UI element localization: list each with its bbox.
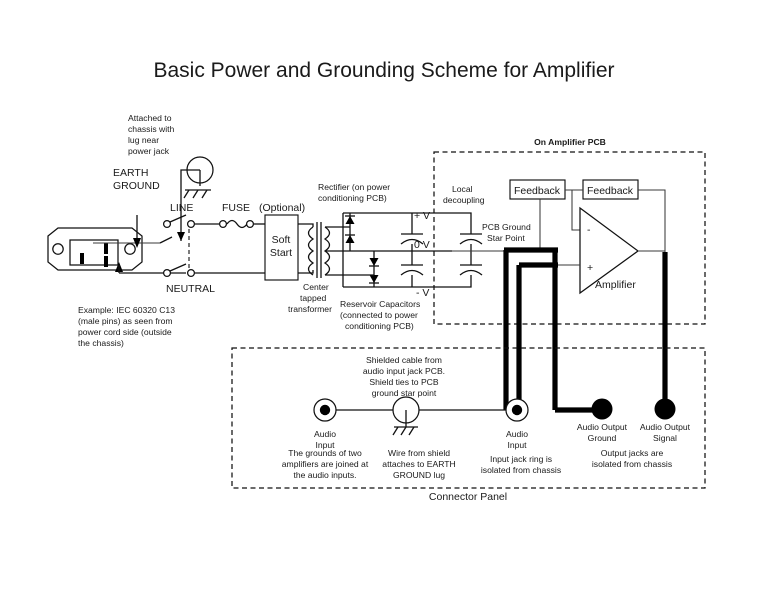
audio-output-signal-jack xyxy=(655,399,676,420)
softstart-to-primary-top xyxy=(298,224,313,227)
fuse-terminal-left xyxy=(220,221,227,228)
line-lead-to-switch xyxy=(160,237,172,243)
neutral-switch xyxy=(164,264,195,276)
power-grounding-schematic: Basic Power and Grounding Scheme for Amp… xyxy=(0,0,768,594)
reservoir-label-line-3: conditioning PCB) xyxy=(345,321,414,331)
amplifier-noninverting-input-label: + xyxy=(587,262,593,274)
diode-3 xyxy=(369,258,379,266)
page-title: Basic Power and Grounding Scheme for Amp… xyxy=(153,59,614,82)
line-switch-pole-right xyxy=(188,221,195,228)
feedback-2-to-output-wire xyxy=(638,190,665,252)
soft-start-label-line-1: Soft xyxy=(272,234,291,246)
rail-zero-label: 0 V xyxy=(414,239,430,251)
decoup-neg-bottom-lead xyxy=(452,275,471,287)
attached-note-line-2: chassis with xyxy=(128,124,175,134)
fuse-label: FUSE xyxy=(222,202,250,214)
rectifier-label-line-1: Rectifier (on power xyxy=(318,182,390,192)
diode-2 xyxy=(345,235,355,243)
shield-earth-ground-node xyxy=(393,397,419,435)
amplifier-label: Amplifier xyxy=(595,279,636,291)
diagram-canvas: Basic Power and Grounding Scheme for Amp… xyxy=(0,0,768,594)
fuse-terminal-right xyxy=(247,221,254,228)
inlet-pin-line xyxy=(104,243,108,254)
attached-note-line-4: power jack xyxy=(128,146,170,156)
feedback-to-inverting-input-wire xyxy=(572,190,580,230)
on-amplifier-pcb-label: On Amplifier PCB xyxy=(534,137,606,147)
grounds-joined-note-line-1: The grounds of two xyxy=(288,448,362,458)
audio-input-right-label-line-1: Audio xyxy=(506,429,528,439)
audio-output-ground-jack xyxy=(592,399,613,420)
diode-1 xyxy=(345,216,355,224)
iec-example-line-2: (male pins) as seen from xyxy=(78,316,173,326)
inlet-pin-earth xyxy=(80,253,84,264)
iec-example-line-1: Example: IEC 60320 C13 xyxy=(78,305,175,315)
connector-panel-label: Connector Panel xyxy=(429,491,507,503)
rail-minus-label: - V xyxy=(416,287,429,299)
pcb-star-point-label-line-1: PCB Ground xyxy=(482,222,531,232)
earth-ground-label-line-1: EARTH xyxy=(113,167,148,179)
transformer xyxy=(309,222,453,278)
local-decoupling-label-line-2: decoupling xyxy=(443,195,485,205)
local-decoupling-capacitors xyxy=(452,213,482,287)
wire-from-shield-note-line-2: attaches to EARTH xyxy=(382,459,455,469)
center-tapped-label-line-1: Center xyxy=(303,282,329,292)
wire-from-shield-note-line-1: Wire from shield xyxy=(388,448,450,458)
audio-input-right-label-line-2: Input xyxy=(507,440,527,450)
input-jack-isolated-note-line-1: Input jack ring is xyxy=(490,454,552,464)
audio-input-jack-left xyxy=(314,399,336,421)
audio-output-ground-label-line-1: Audio Output xyxy=(577,422,628,432)
shielded-cable-note-line-2: audio input jack PCB. xyxy=(363,366,445,376)
feedback-1-label: Feedback xyxy=(514,185,561,197)
feedback-2-label: Feedback xyxy=(587,185,634,197)
transformer-primary-winding xyxy=(309,227,314,275)
cap-neg-plate-curved xyxy=(401,271,423,276)
decoup-pos-top-lead xyxy=(452,213,471,234)
soft-start-label-line-2: Start xyxy=(270,247,292,259)
chassis-ground-symbol xyxy=(184,190,211,198)
inlet-pin-neutral xyxy=(104,256,108,267)
iec-inlet-connector xyxy=(48,228,142,270)
earth-pin-arrowhead xyxy=(177,232,185,241)
iec-example-line-4: the chassis) xyxy=(78,338,124,348)
grounds-joined-note-line-3: the audio inputs. xyxy=(293,470,356,480)
local-decoupling-label-line-1: Local xyxy=(452,184,473,194)
grounds-joined-note-line-2: amplifiers are joined at xyxy=(282,459,369,469)
reservoir-label-line-1: Reservoir Capacitors xyxy=(340,299,420,309)
diode-4 xyxy=(369,275,379,283)
pcb-star-point-label-line-2: Star Point xyxy=(487,233,525,243)
center-tapped-label-line-3: transformer xyxy=(288,304,332,314)
output-jacks-isolated-note-line-1: Output jacks are xyxy=(601,448,664,458)
decoup-neg-plate-curved xyxy=(460,271,482,276)
iec-example-line-3: power cord side (outside xyxy=(78,327,172,337)
rectifier-bridge xyxy=(343,213,452,287)
rectifier-label-line-2: conditioning PCB) xyxy=(318,193,387,203)
earth-ground-label-line-2: GROUND xyxy=(113,180,160,192)
neutral-switch-pole-left xyxy=(164,270,171,277)
input-jack-isolated-note-line-2: isolated from chassis xyxy=(481,465,561,475)
reservoir-label-line-2: (connected to power xyxy=(340,310,418,320)
neutral-label: NEUTRAL xyxy=(166,283,215,295)
rail-plus-label: + V xyxy=(414,210,430,222)
line-label: LINE xyxy=(170,202,193,214)
wire-from-shield-note-line-3: GROUND lug xyxy=(393,470,445,480)
amplifier-inverting-input-label: - xyxy=(587,224,591,236)
audio-output-signal-label-line-2: Signal xyxy=(653,433,677,443)
attached-note-line-3: lug near xyxy=(128,135,159,145)
audio-input-jack-right xyxy=(506,399,528,421)
output-jacks-isolated-note-line-2: isolated from chassis xyxy=(592,459,672,469)
audio-input-left-label-line-1: Audio xyxy=(314,429,336,439)
neutral-switch-pole-right xyxy=(188,270,195,277)
audio-input-jack-right-tip xyxy=(512,405,522,415)
center-tapped-label-line-2: tapped xyxy=(300,293,327,303)
line-switch xyxy=(164,215,195,227)
shielded-cable-note-line-3: Shield ties to PCB xyxy=(369,377,439,387)
audio-output-ground-label-line-2: Ground xyxy=(588,433,617,443)
decoup-pos-plate-curved xyxy=(460,240,482,245)
optional-label: (Optional) xyxy=(259,202,305,214)
line-switch-pole-left xyxy=(164,221,171,228)
fuse-component xyxy=(220,221,254,228)
shielded-cable-note-line-1: Shielded cable from xyxy=(366,355,442,365)
audio-input-jack-left-tip xyxy=(320,405,330,415)
audio-output-signal-label-line-1: Audio Output xyxy=(640,422,691,432)
attached-note-line-1: Attached to xyxy=(128,113,172,123)
